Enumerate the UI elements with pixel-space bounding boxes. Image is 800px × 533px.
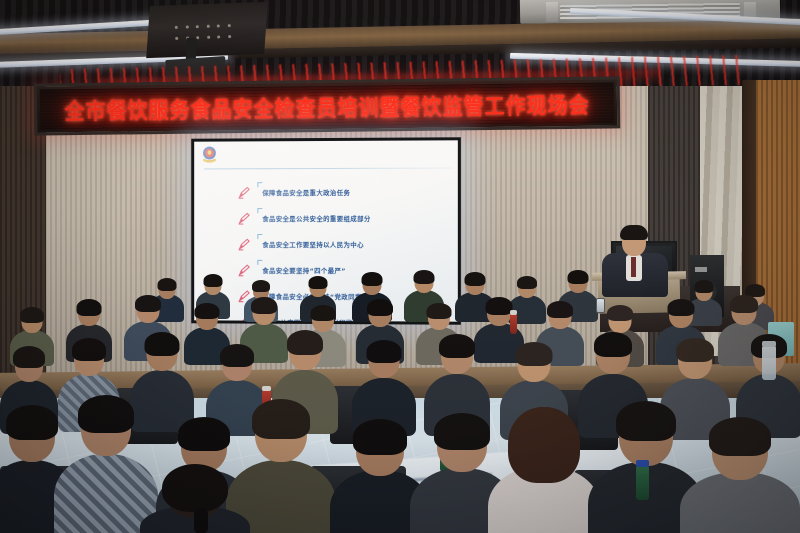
bullet-frame: 保障食品安全是重大政治任务 xyxy=(257,183,457,202)
air-conditioner-vent-left xyxy=(546,2,558,22)
bullet-text: 食品安全是公共安全的重要组成部分 xyxy=(257,214,370,223)
pen-icon xyxy=(238,238,251,251)
national-emblem-badge xyxy=(201,146,218,165)
bullet-text: 食品安全工作要坚持以人民为中心 xyxy=(257,240,364,249)
bullet-frame: 食品安全工作要坚持以人民为中心 xyxy=(257,235,457,254)
pen-icon xyxy=(238,212,251,225)
banner-title-text: 全市餐饮服务食品安全检查员培训暨餐饮监管工作现场会 xyxy=(64,87,589,126)
list-item: 食品安全工作要坚持以人民为中心 xyxy=(238,233,458,256)
attendee xyxy=(352,342,416,430)
water-bottle xyxy=(762,346,776,380)
presenter-hair xyxy=(620,225,648,240)
conference-room-photo: 全市餐饮服务食品安全检查员培训暨餐饮监管工作现场会 xyxy=(0,0,800,533)
water-bottle xyxy=(510,314,517,334)
attendee xyxy=(680,420,800,533)
led-banner: 全市餐饮服务食品安全检查员培训暨餐饮监管工作现场会 xyxy=(34,76,621,135)
ponytail xyxy=(194,508,208,533)
frame-corner-icon xyxy=(257,208,262,213)
bullet-text: 保障食品安全是重大政治任务 xyxy=(257,188,350,197)
frame-corner-icon xyxy=(257,260,262,265)
frame-corner-icon xyxy=(257,234,262,239)
water-bottle xyxy=(636,466,649,500)
pen-icon xyxy=(238,186,251,199)
mobile-phone xyxy=(596,298,605,313)
projector-indicator-leds xyxy=(172,21,235,43)
bullet-frame: 食品安全是公共安全的重要组成部分 xyxy=(257,209,457,228)
attendee-ponytail xyxy=(140,466,250,533)
audience xyxy=(0,270,800,533)
frame-corner-icon xyxy=(257,182,262,187)
list-item: 食品安全是公共安全的重要组成部分 xyxy=(238,207,458,230)
attendee-long-hair xyxy=(488,410,600,533)
slide-header-divider xyxy=(204,168,454,170)
list-item: 保障食品安全是重大政治任务 xyxy=(238,181,458,205)
led-banner-screen: 全市餐饮服务食品安全检查员培训暨餐饮监管工作现场会 xyxy=(40,82,614,129)
